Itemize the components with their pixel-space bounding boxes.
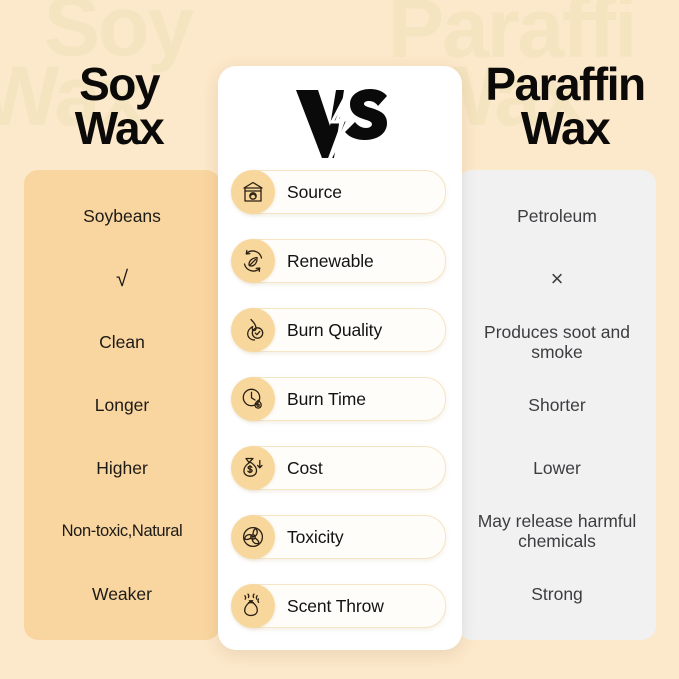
paraffin-value-renewable: × — [468, 247, 646, 310]
criteria-row-source[interactable]: Source — [234, 170, 446, 214]
right-title: Paraffin Wax — [452, 62, 678, 150]
paraffin-wax-values-panel: Petroleum × Produces soot and smoke Shor… — [458, 170, 656, 640]
soy-value-scent-throw: Weaker — [34, 563, 210, 626]
paraffin-value-burn-quality: Produces soot and smoke — [468, 310, 646, 373]
right-title-line1: Paraffin — [452, 62, 678, 106]
criteria-row-burn-quality[interactable]: Burn Quality — [234, 308, 446, 352]
criteria-card: Source Renewable — [218, 66, 462, 650]
criteria-row-cost[interactable]: Cost — [234, 446, 446, 490]
criteria-label-scent-throw: Scent Throw — [287, 596, 384, 617]
flame-check-icon — [231, 308, 275, 352]
soy-value-cost: Higher — [34, 437, 210, 500]
paraffin-value-cost: Lower — [468, 437, 646, 500]
watermark-soy-line1: Soy — [44, 0, 192, 65]
wax-container-icon — [231, 170, 275, 214]
clock-flame-icon — [231, 377, 275, 421]
paraffin-value-source: Petroleum — [468, 184, 646, 247]
paraffin-value-scent-throw: Strong — [468, 563, 646, 626]
criteria-label-toxicity: Toxicity — [287, 527, 344, 548]
soy-wax-values-panel: Soybeans √ Clean Longer Higher Non-toxic… — [24, 170, 220, 640]
criteria-label-renewable: Renewable — [287, 251, 374, 272]
paraffin-value-toxicity: May release harmful chemicals — [468, 500, 646, 563]
criteria-row-scent-throw[interactable]: Scent Throw — [234, 584, 446, 628]
soy-value-renewable: √ — [34, 247, 210, 310]
soy-value-burn-quality: Clean — [34, 310, 210, 373]
criteria-label-burn-quality: Burn Quality — [287, 320, 382, 341]
soy-value-toxicity: Non-toxic,Natural — [34, 500, 210, 563]
leaf-recycle-icon — [231, 239, 275, 283]
criteria-row-toxicity[interactable]: Toxicity — [234, 515, 446, 559]
infographic-canvas: Soy Wax Paraffi Wax Soy Wax Paraffin Wax… — [0, 0, 679, 679]
right-title-line2: Wax — [452, 106, 678, 150]
left-title-line1: Soy — [14, 62, 224, 106]
left-title: Soy Wax — [14, 62, 224, 150]
soy-value-burn-time: Longer — [34, 373, 210, 436]
paraffin-value-burn-time: Shorter — [468, 373, 646, 436]
criteria-label-burn-time: Burn Time — [287, 389, 366, 410]
criteria-label-cost: Cost — [287, 458, 323, 479]
criteria-label-source: Source — [287, 182, 342, 203]
biohazard-icon — [231, 515, 275, 559]
money-bag-arrow-icon — [231, 446, 275, 490]
scent-bag-icon — [231, 584, 275, 628]
soy-value-source: Soybeans — [34, 184, 210, 247]
criteria-row-burn-time[interactable]: Burn Time — [234, 377, 446, 421]
left-title-line2: Wax — [14, 106, 224, 150]
vs-logo — [230, 80, 450, 168]
criteria-row-renewable[interactable]: Renewable — [234, 239, 446, 283]
criteria-rows: Source Renewable — [230, 168, 450, 634]
